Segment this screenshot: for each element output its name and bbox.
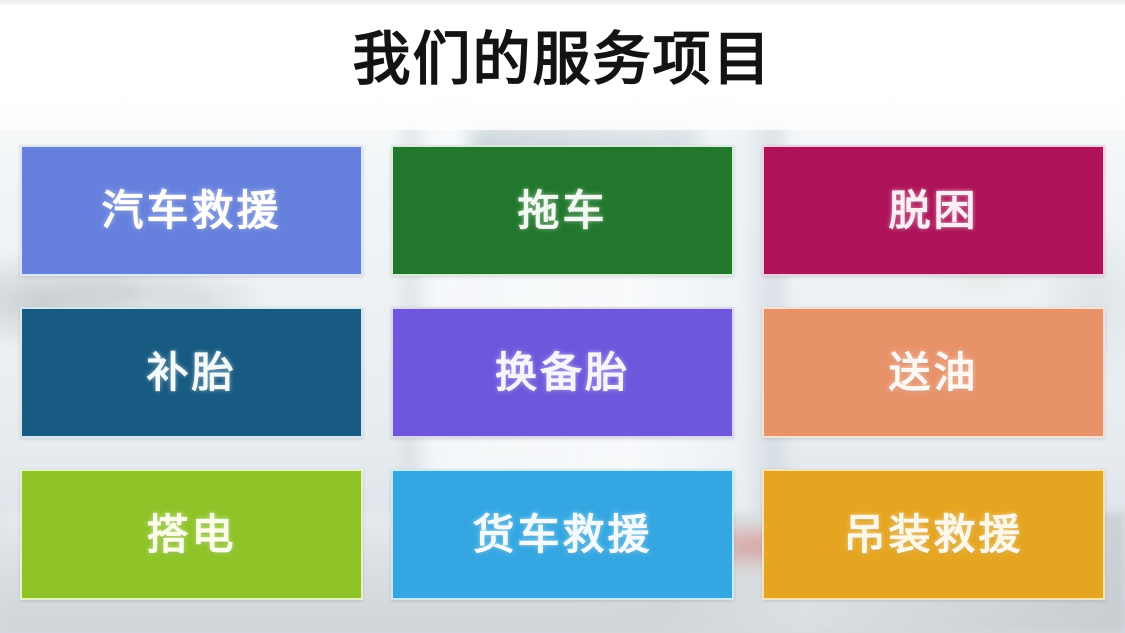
service-tile-truck-rescue[interactable]: 货车救援 (391, 469, 734, 600)
page-title: 我们的服务项目 (0, 24, 1125, 96)
service-poster: 我们的服务项目 汽车救援拖车脱困补胎换备胎送油搭电货车救援吊装救援 (0, 0, 1125, 633)
background-top-edge-line (0, 0, 1125, 6)
service-tile-label: 脱困 (888, 190, 978, 232)
service-tile-recovery[interactable]: 脱困 (762, 145, 1105, 276)
service-tile-label: 货车救援 (472, 514, 652, 556)
service-tile-label: 补胎 (146, 352, 236, 394)
service-grid: 汽车救援拖车脱困补胎换备胎送油搭电货车救援吊装救援 (20, 145, 1105, 600)
service-tile-roadside-assistance[interactable]: 汽车救援 (20, 145, 363, 276)
service-tile-tire-repair[interactable]: 补胎 (20, 307, 363, 438)
service-tile-jump-start[interactable]: 搭电 (20, 469, 363, 600)
service-tile-label: 换备胎 (495, 352, 630, 394)
service-tile-label: 拖车 (517, 190, 607, 232)
service-tile-crane-rescue[interactable]: 吊装救援 (762, 469, 1105, 600)
service-tile-spare-tire-change[interactable]: 换备胎 (391, 307, 734, 438)
service-tile-label: 送油 (888, 352, 978, 394)
service-tile-fuel-delivery[interactable]: 送油 (762, 307, 1105, 438)
service-tile-towing[interactable]: 拖车 (391, 145, 734, 276)
service-tile-label: 搭电 (146, 514, 236, 556)
service-tile-label: 汽车救援 (101, 190, 281, 232)
service-tile-label: 吊装救援 (843, 514, 1023, 556)
